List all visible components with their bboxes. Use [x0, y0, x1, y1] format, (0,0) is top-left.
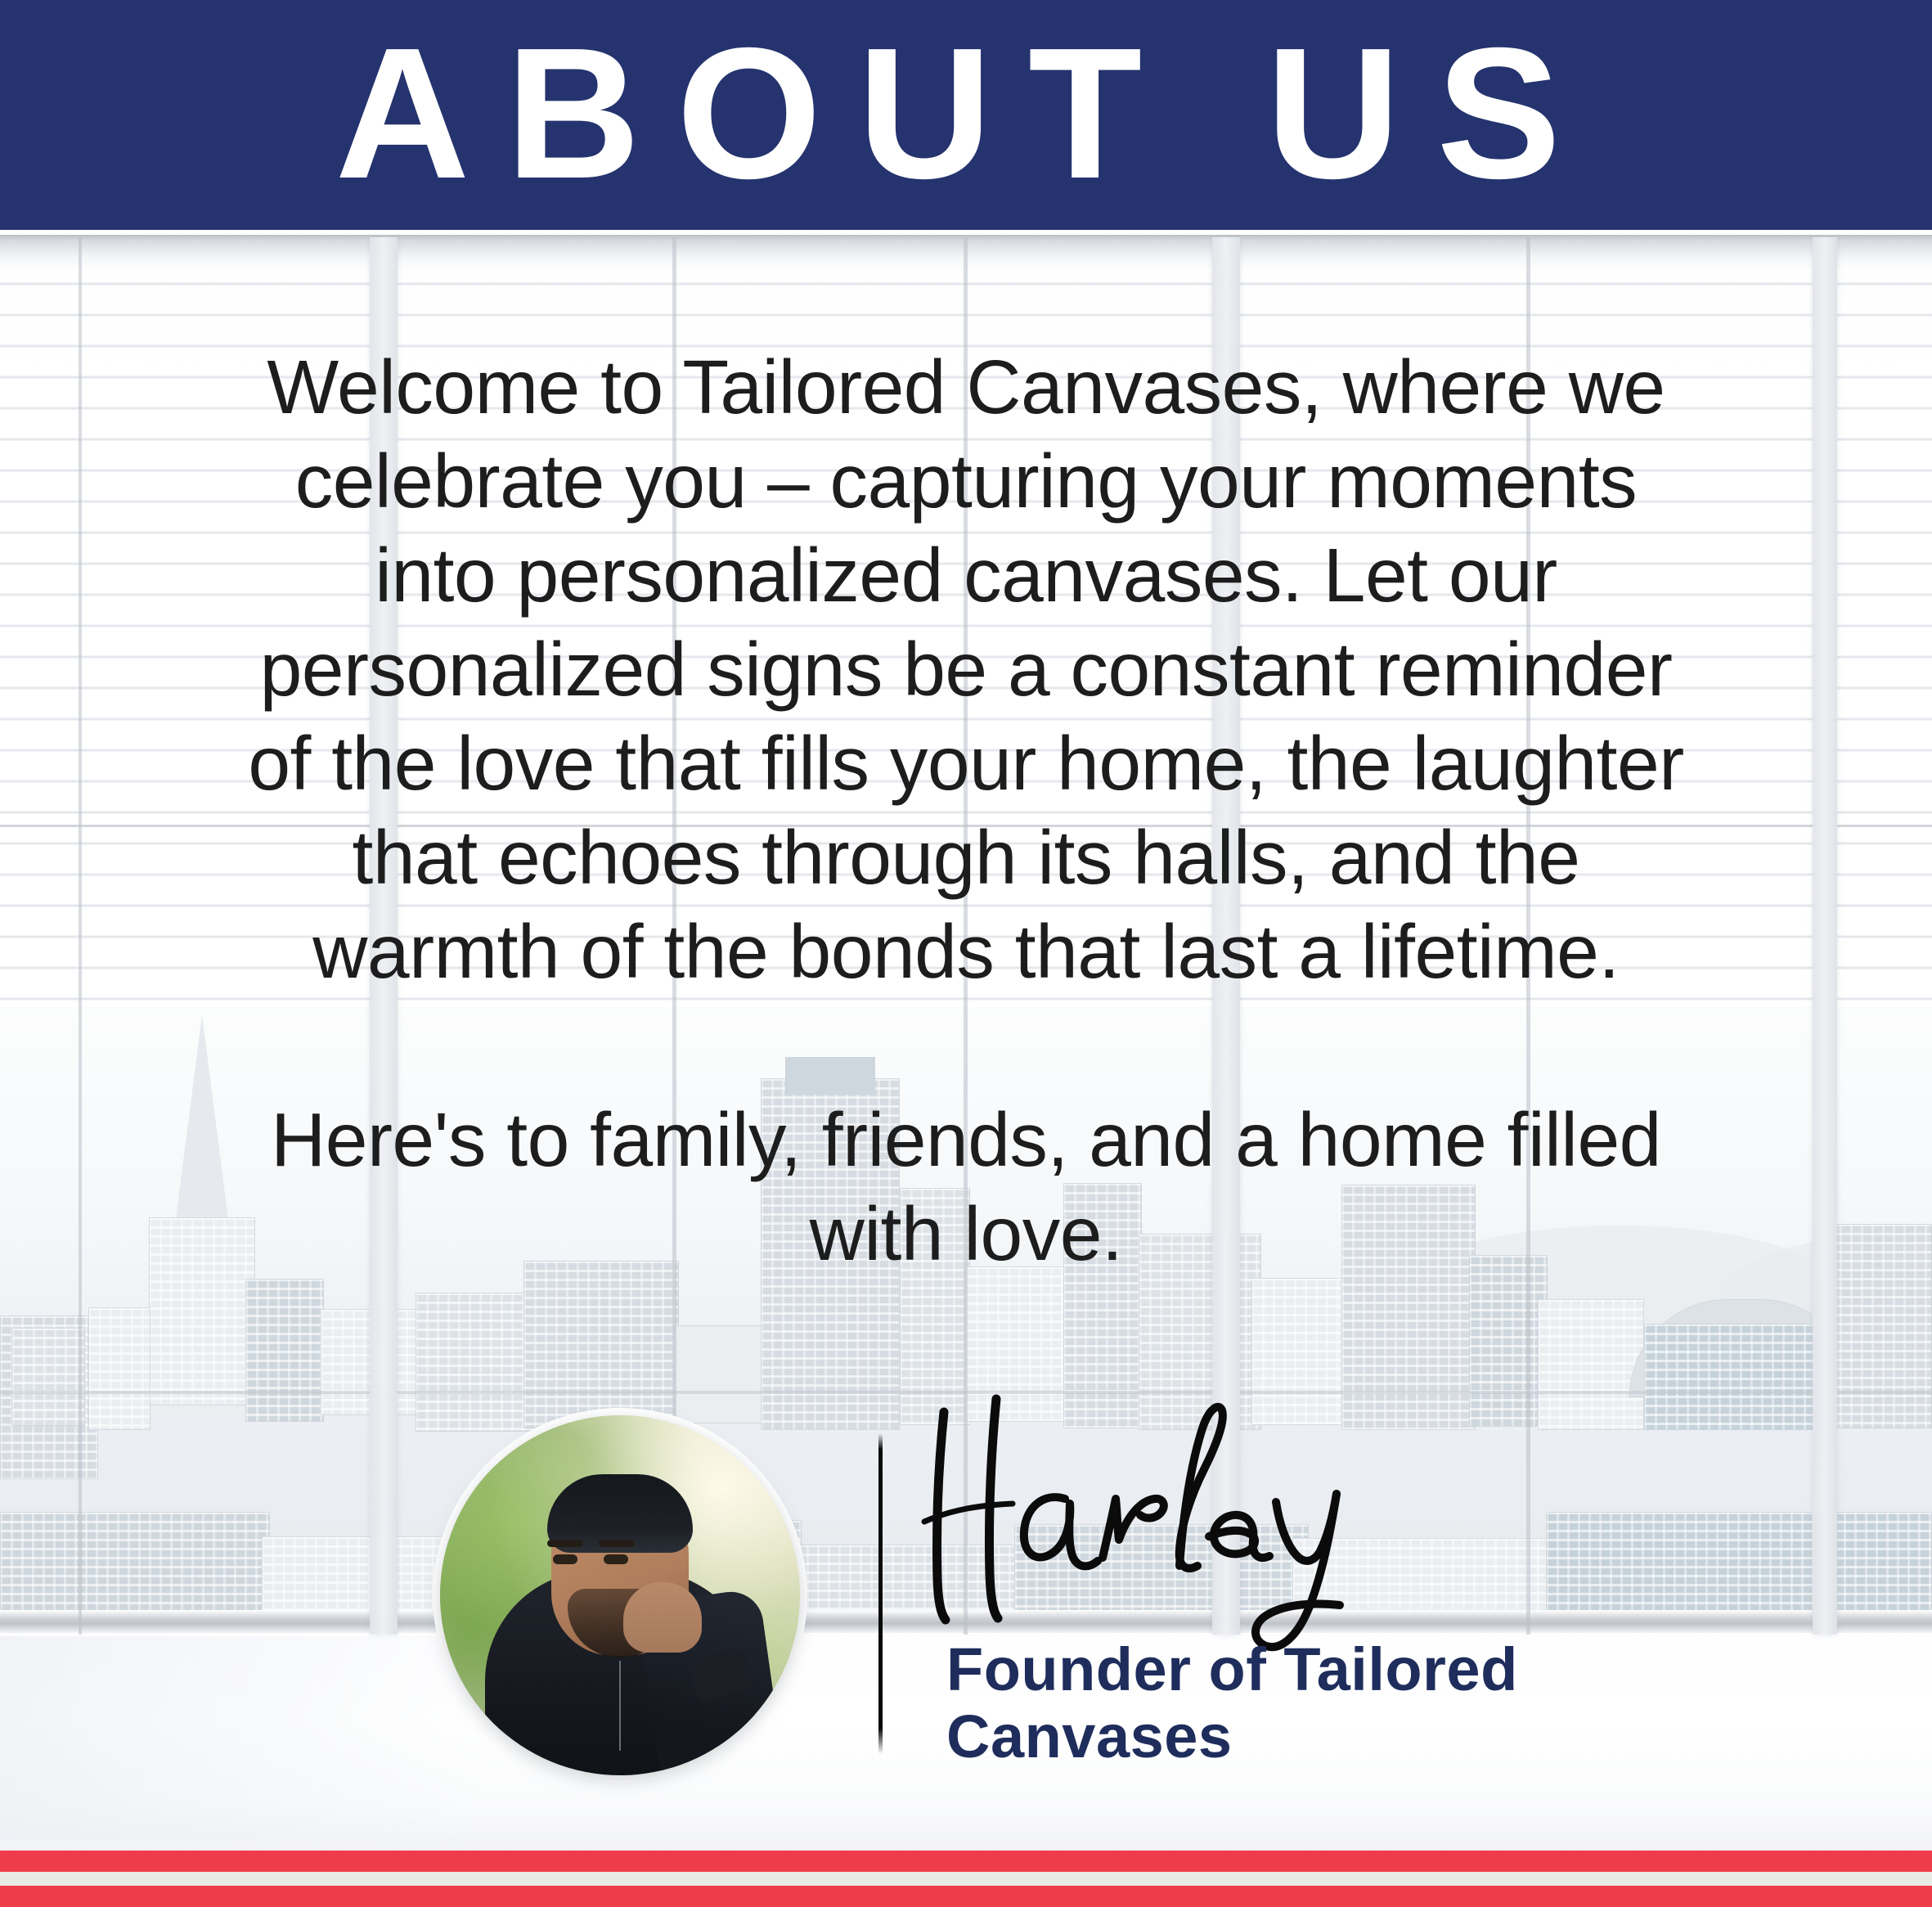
about-paragraph-2: Here's to family, friends, and a home fi… — [246, 1093, 1686, 1281]
building — [245, 1279, 324, 1422]
pyramid-tower-base — [149, 1217, 255, 1406]
building — [88, 1307, 151, 1430]
building — [416, 1293, 538, 1432]
footer-bar-gap — [0, 1872, 1932, 1886]
building — [965, 1266, 1073, 1422]
footer-bar-bottom — [0, 1886, 1932, 1907]
header-underline — [0, 230, 1932, 235]
about-paragraph-1: Welcome to Tailored Canvases, where we c… — [246, 340, 1686, 999]
paragraph-spacer — [246, 999, 1686, 1093]
avatar-eye-left — [553, 1554, 577, 1564]
window-mullion — [1813, 237, 1837, 1635]
building — [1251, 1278, 1350, 1425]
building — [11, 1328, 85, 1426]
window-mullion — [79, 237, 82, 1635]
building — [1538, 1299, 1644, 1430]
avatar-photo — [440, 1415, 800, 1775]
avatar-hand — [623, 1582, 702, 1653]
avatar-eyebrow-left — [547, 1540, 583, 1547]
footer-bar-top — [0, 1851, 1932, 1872]
header-banner: ABOUT US — [0, 0, 1932, 230]
pyramid-tower-spire — [176, 1014, 228, 1219]
about-us-graphic: ABOUT US Welcome to Tailored Canvases, w… — [0, 0, 1932, 1907]
about-us-copy: Welcome to Tailored Canvases, where we c… — [246, 340, 1686, 1281]
building — [523, 1261, 679, 1428]
avatar — [440, 1415, 800, 1775]
building — [1644, 1324, 1832, 1430]
avatar-necklace — [619, 1661, 621, 1751]
avatar-eye-right — [604, 1554, 628, 1564]
building — [674, 1325, 764, 1424]
avatar-eyebrow-right — [599, 1540, 635, 1547]
building — [1829, 1224, 1932, 1428]
page-title: ABOUT US — [0, 7, 1932, 221]
